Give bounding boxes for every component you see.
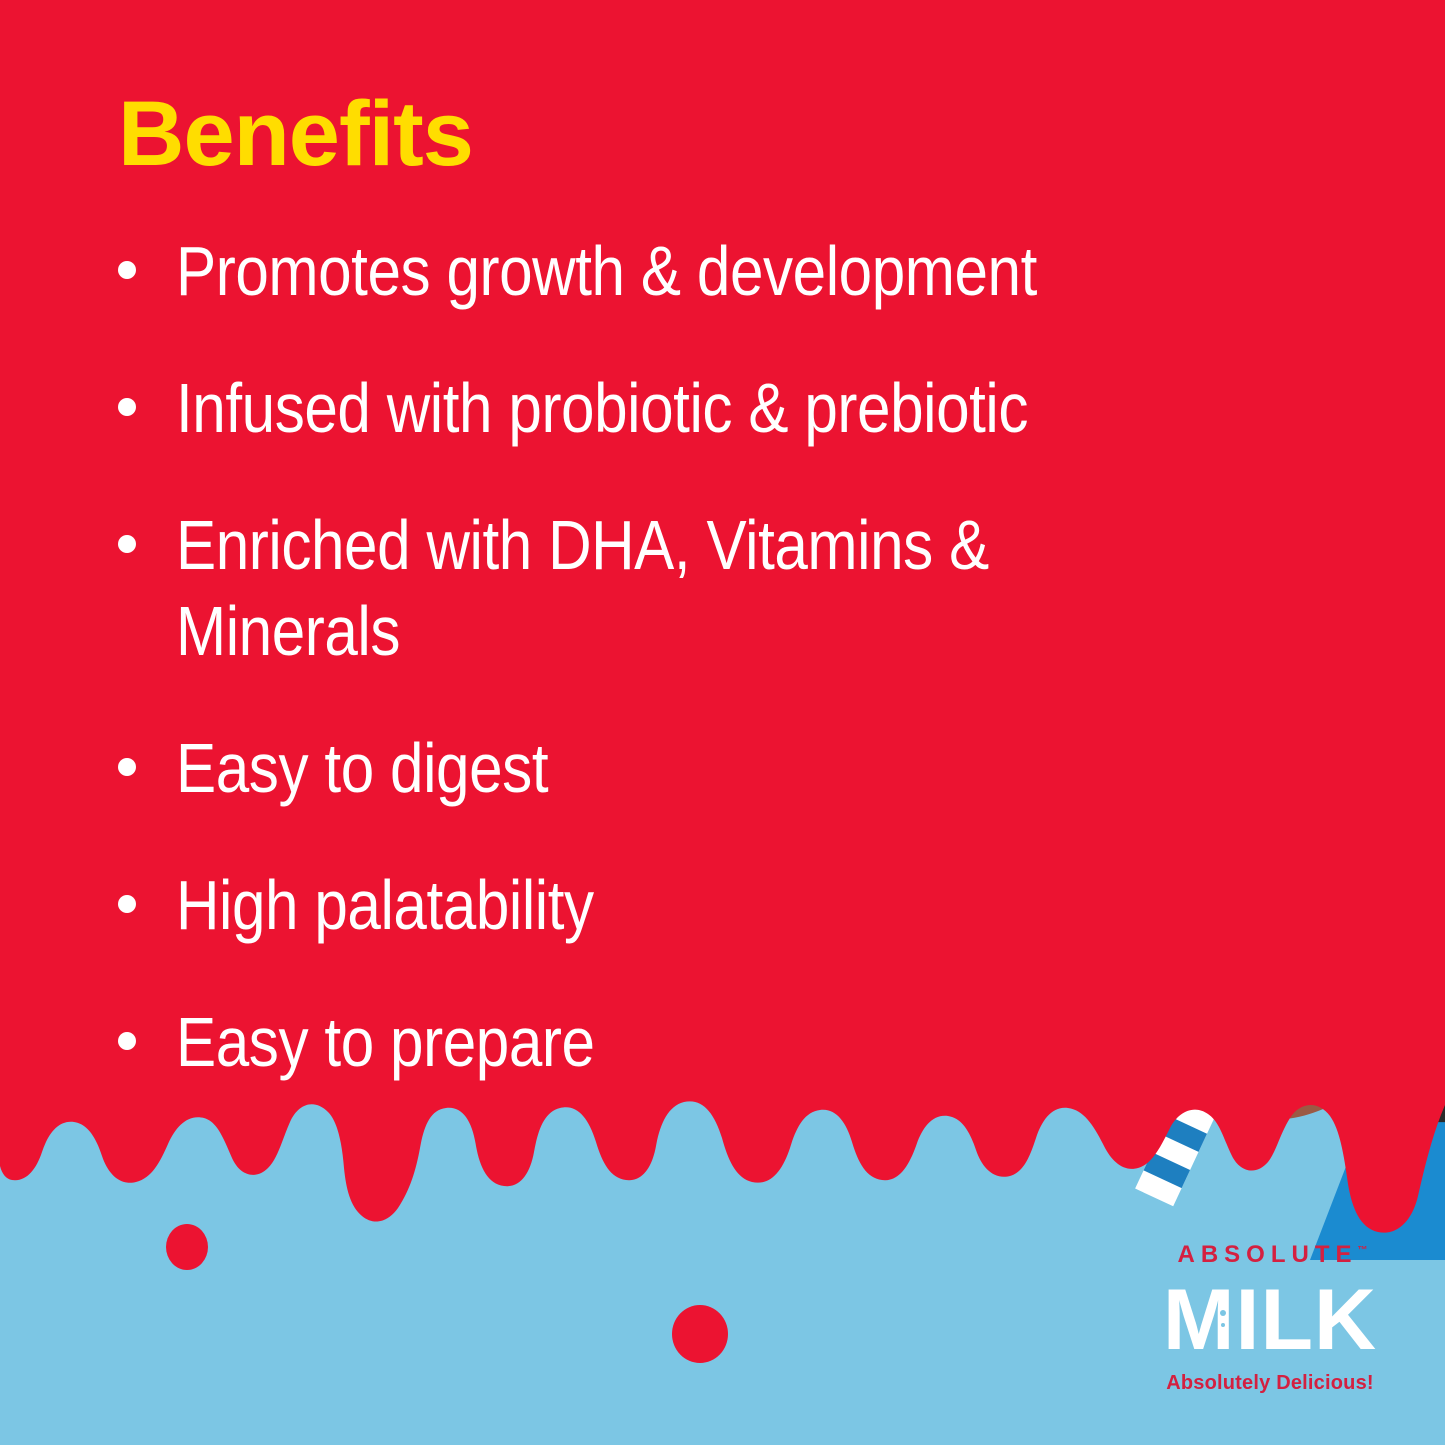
benefit-label: Promotes growth & development [176,228,1158,315]
benefit-label: High palatability [176,862,1158,949]
benefit-label: Enriched with DHA, Vitamins & Minerals [176,502,1158,676]
brand-tagline: Absolutely Delicious! [1135,1373,1405,1393]
red-droplet-2 [672,1305,728,1363]
milk-wordmark-svg: MILK [1135,1275,1405,1367]
list-item: Easy to prepare [118,999,1318,1086]
benefit-label: Easy to digest [176,725,1158,812]
brand-name-absolute: ABSOLUTE™ [1173,1243,1368,1267]
red-droplet-1 [166,1224,208,1270]
bullet-icon [118,758,136,776]
bullet-icon [118,895,136,913]
list-item: Promotes growth & development [118,228,1318,315]
trademark-icon: ™ [1358,1245,1368,1256]
list-item: Easy to digest [118,725,1318,812]
page-title: Benefits [118,88,473,180]
list-item: High palatability [118,862,1318,949]
brand-absolute-text: ABSOLUTE [1178,1241,1358,1268]
bullet-icon [118,398,136,416]
list-item: Enriched with DHA, Vitamins & Minerals [118,502,1318,676]
list-item: Infused with probiotic & prebiotic [118,365,1318,452]
bullet-icon [118,261,136,279]
bullet-icon [118,535,136,553]
benefits-list: Promotes growth & development Infused wi… [118,228,1318,1136]
benefit-label: Easy to prepare [176,999,1158,1086]
svg-text:MILK: MILK [1163,1275,1377,1367]
bullet-icon [118,1032,136,1050]
benefit-label: Infused with probiotic & prebiotic [176,365,1158,452]
brand-name-milk: MILK [1135,1275,1405,1367]
poster-canvas: Benefits Promotes growth & development I… [0,0,1445,1445]
brand-logo: ABSOLUTE™ MILK [1135,1243,1405,1393]
